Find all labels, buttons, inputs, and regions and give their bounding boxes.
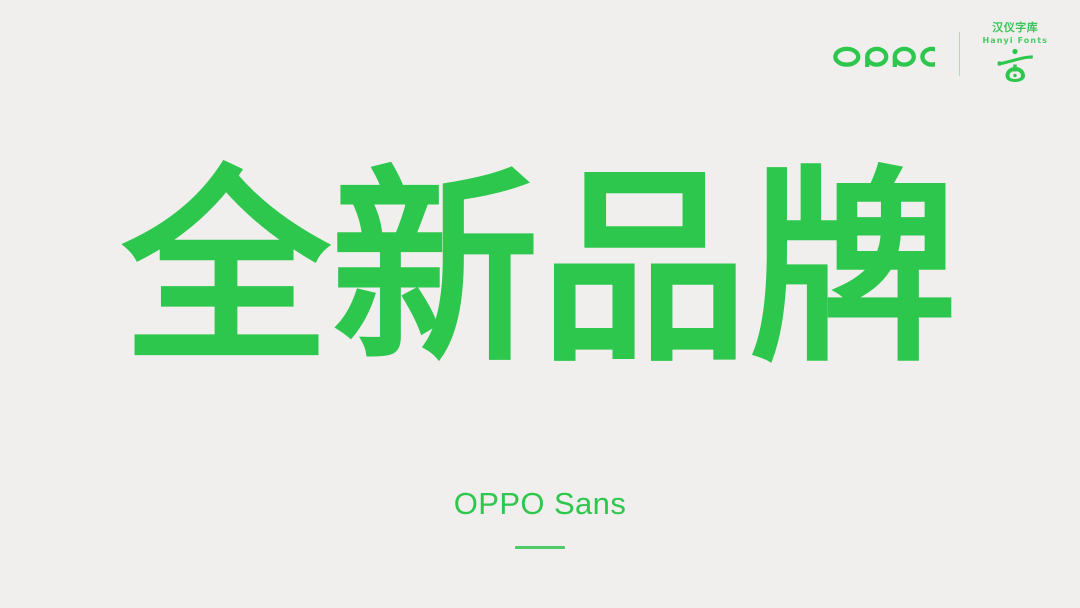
hanyi-name-en: Hanyi Fonts bbox=[982, 35, 1048, 46]
logo-lockup: 汉仪字库 Hanyi Fonts bbox=[833, 22, 1048, 86]
logo-divider bbox=[959, 32, 960, 76]
hanyi-zi-glyph-icon bbox=[996, 48, 1034, 87]
caption-block: OPPO Sans bbox=[0, 486, 1080, 549]
oppo-logo bbox=[833, 41, 935, 67]
page-title: 全新品牌 bbox=[0, 150, 1080, 390]
brand-slide: 汉仪字库 Hanyi Fonts bbox=[0, 0, 1080, 608]
hanyi-name-cn: 汉仪字库 bbox=[992, 22, 1038, 34]
caption-underline bbox=[515, 546, 565, 549]
hanyi-logo: 汉仪字库 Hanyi Fonts bbox=[982, 21, 1048, 87]
font-name-label: OPPO Sans bbox=[454, 486, 626, 522]
